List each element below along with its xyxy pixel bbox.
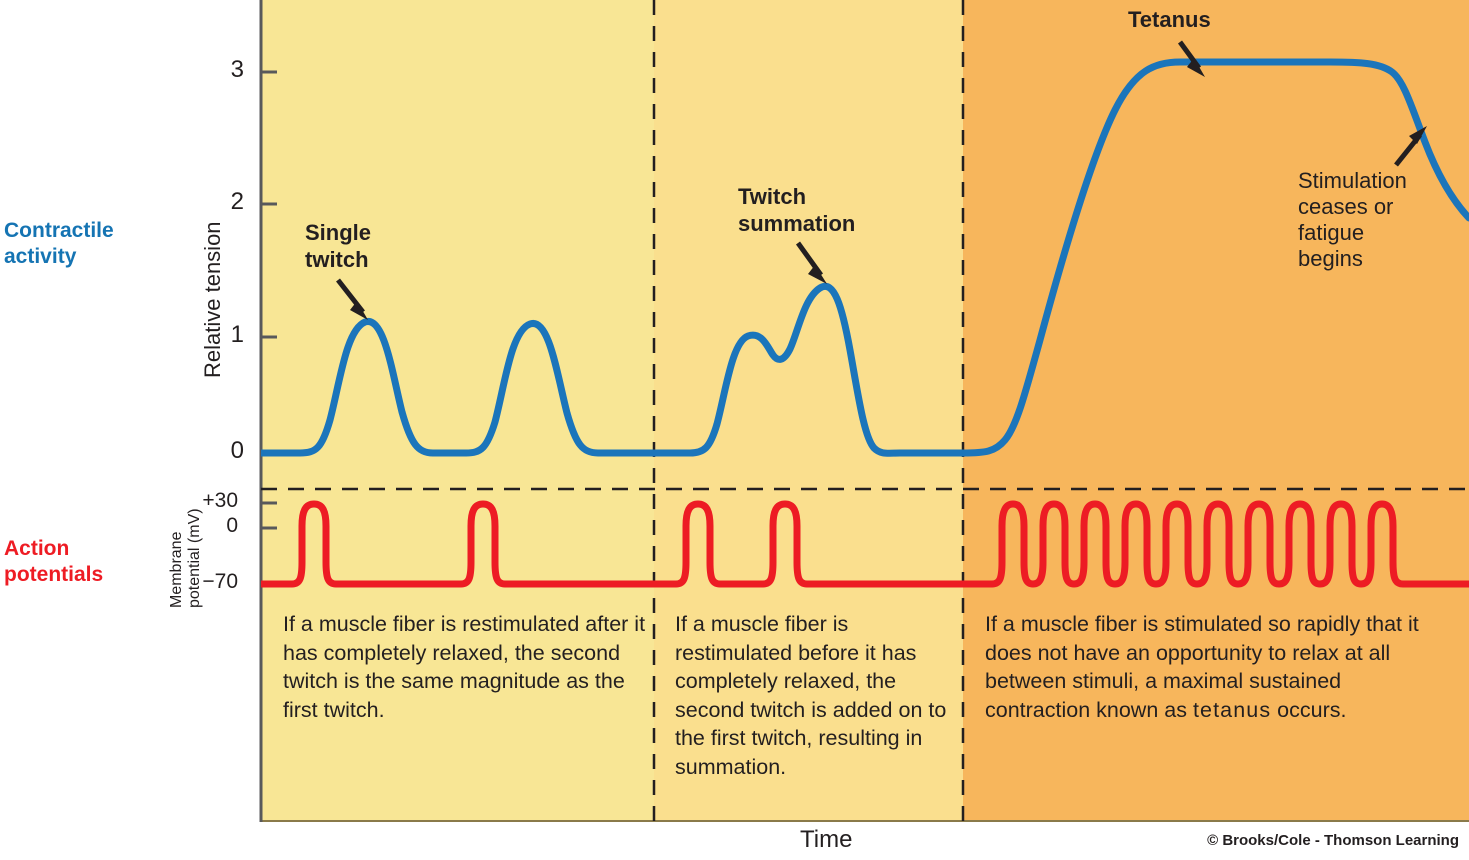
figure-twitch-summation-tetanus: Contractile activity Action potentials R…: [0, 0, 1469, 860]
contractile-activity-label: Contractile activity: [4, 218, 154, 270]
tension-tick-1: 1: [188, 321, 244, 349]
tetanus-panel-text-emphasis: tetanus: [1193, 698, 1271, 722]
tetanus-annotation: Tetanus: [1128, 6, 1211, 33]
action-potentials-label: Action potentials: [4, 536, 154, 588]
single-twitch-panel-text: If a muscle fiber is restimulated after …: [283, 610, 653, 724]
single-twitch-annotation: Single twitch: [305, 219, 371, 273]
relative-tension-axis-title: Relative tension: [200, 221, 226, 378]
stimulation-ceases-annotation: Stimulation ceases or fatigue begins: [1298, 168, 1407, 272]
tension-tick-0: 0: [188, 437, 244, 465]
tension-tick-2: 2: [188, 188, 244, 216]
tetanus-panel-text-after: occurs.: [1271, 698, 1346, 722]
tension-tick-3: 3: [188, 56, 244, 84]
copyright-notice: © Brooks/Cole - Thomson Learning: [1207, 832, 1459, 849]
twitch-summation-panel-text: If a muscle fiber is restimulated before…: [675, 610, 955, 781]
tetanus-panel-text: If a muscle fiber is stimulated so rapid…: [985, 610, 1450, 724]
membrane-tick-plus30: +30: [182, 489, 238, 513]
membrane-tick-0: 0: [182, 514, 238, 538]
twitch-summation-annotation: Twitch summation: [738, 183, 855, 237]
membrane-tick-minus70: −70: [182, 570, 238, 594]
time-axis-label: Time: [800, 826, 852, 854]
